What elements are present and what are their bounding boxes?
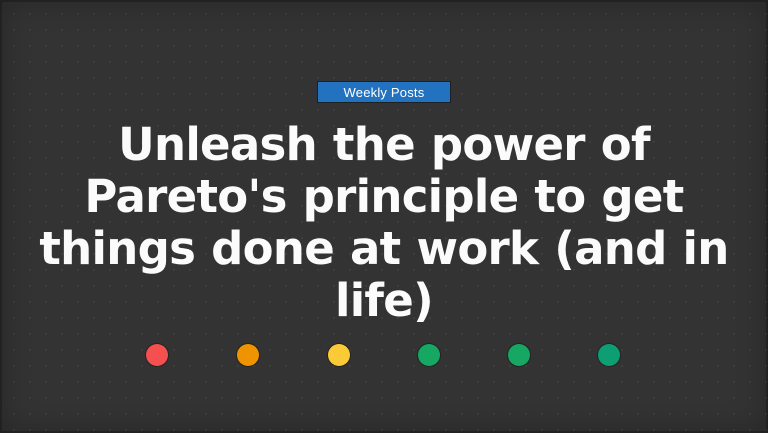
dot-green-teal-icon — [598, 344, 620, 366]
dot-red-icon — [146, 344, 168, 366]
page-title: Unleash the power of Pareto's principle … — [34, 119, 734, 327]
dot-green-icon — [418, 344, 440, 366]
slide-canvas: Weekly Posts Unleash the power of Pareto… — [0, 0, 768, 433]
dot-indicator-row — [0, 344, 768, 367]
dot-yellow-icon — [328, 344, 350, 366]
dot-orange-icon — [237, 344, 259, 366]
category-badge[interactable]: Weekly Posts — [317, 81, 451, 103]
slide-content: Weekly Posts Unleash the power of Pareto… — [0, 0, 768, 433]
dot-green-2-icon — [508, 344, 530, 366]
badge-row: Weekly Posts — [317, 81, 451, 103]
